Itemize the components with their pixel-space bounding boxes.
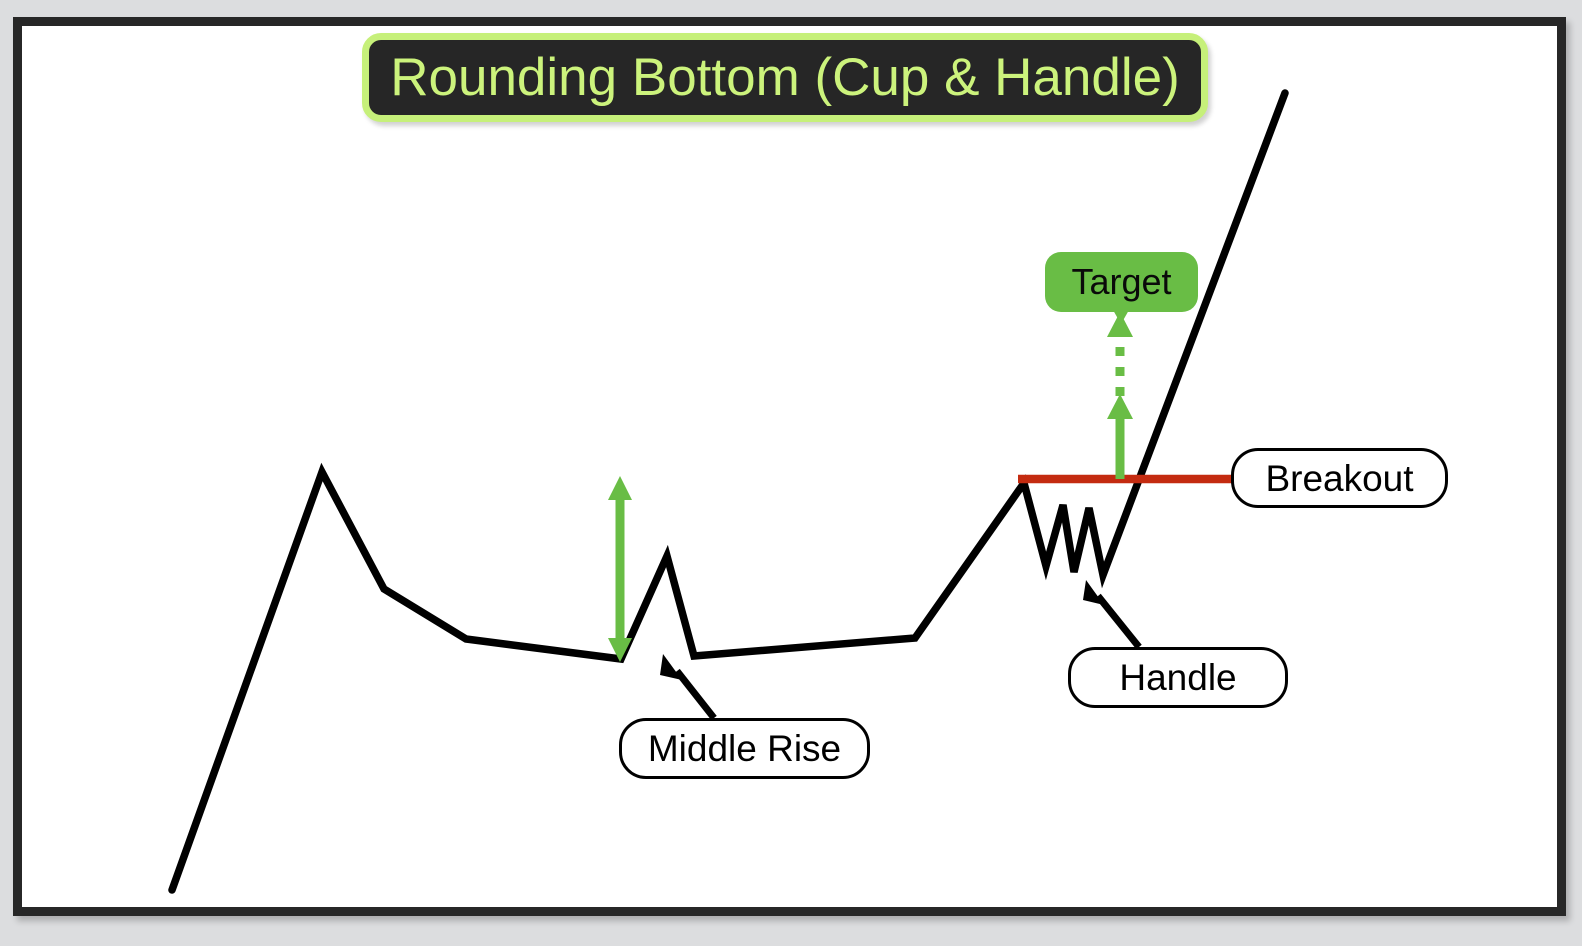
annotation-handle[interactable]: Handle: [1068, 647, 1288, 708]
figure-stage: Rounding Bottom (Cup & Handle) Target Br…: [0, 0, 1582, 946]
target-projection-arrow: [1107, 312, 1133, 479]
annotation-middle-rise[interactable]: Middle Rise: [619, 718, 870, 779]
annotation-handle-label: Handle: [1119, 659, 1236, 696]
page-title-text: Rounding Bottom (Cup & Handle): [390, 51, 1180, 104]
annotation-breakout[interactable]: Breakout: [1231, 448, 1448, 508]
annotation-breakout-label: Breakout: [1265, 460, 1413, 497]
handle-leader-arrow: [1083, 580, 1139, 647]
page-title: Rounding Bottom (Cup & Handle): [362, 33, 1208, 122]
annotation-target-label: Target: [1071, 264, 1171, 300]
middle-rise-leader-arrow: [660, 654, 714, 718]
annotation-target[interactable]: Target: [1045, 252, 1198, 312]
annotation-middle-rise-label: Middle Rise: [648, 730, 841, 767]
